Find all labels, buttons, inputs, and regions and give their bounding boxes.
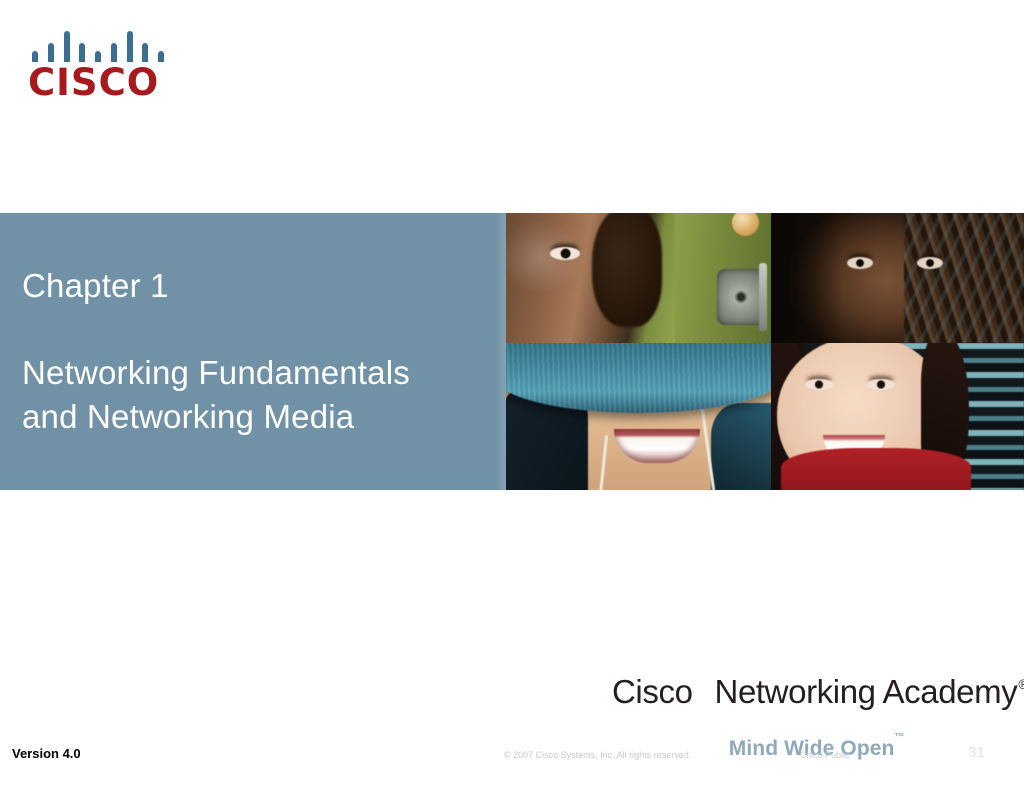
smile-shape (614, 429, 700, 463)
cisco-networking-academy-logo: Cisco Networking Academy ® Mind Wide Ope… (612, 655, 1012, 725)
page-subtitle: Networking Fundamentals and Networking M… (22, 351, 410, 439)
page-number: 31 (968, 744, 985, 761)
classification-label: Cisco Public (800, 750, 850, 760)
page-title: Chapter 1 (22, 265, 169, 308)
registered-trademark-icon: ® (1018, 677, 1024, 691)
shadow-overlay (771, 213, 841, 343)
eye-right-shape (867, 379, 895, 390)
shoulder-right-shape (711, 403, 771, 490)
collage-photo-top-left (506, 213, 771, 343)
eye-left-shape (805, 379, 833, 390)
title-band: Chapter 1 Networking Fundamentals and Ne… (0, 213, 506, 490)
eye-right-shape (917, 257, 943, 269)
eye-left-shape (847, 257, 873, 269)
photo-collage (506, 213, 1024, 490)
academy-logo-primary-line: Cisco Networking Academy ® (612, 655, 1012, 708)
earbud-cord-left (599, 435, 608, 490)
academy-cisco-word: Cisco (612, 675, 693, 708)
collage-photo-bottom-right (771, 343, 1024, 490)
hero-banner: Chapter 1 Networking Fundamentals and Ne… (0, 213, 1024, 490)
skateboard-truck (717, 269, 765, 325)
academy-name-word: Networking Academy (715, 675, 1018, 708)
footer: Version 4.0 © 2007 Cisco Systems, Inc. A… (0, 744, 1024, 768)
dreadlocks-shape (904, 213, 1024, 343)
hair-shape (592, 213, 662, 327)
copyright-notice: © 2007 Cisco Systems, Inc. All rights re… (504, 750, 691, 760)
eye-shape (550, 247, 580, 260)
version-label: Version 4.0 (12, 746, 81, 761)
skateboard-bolt (759, 263, 767, 331)
collage-photo-top-right (771, 213, 1024, 343)
hoodie-shape (506, 343, 771, 413)
red-top-shape (781, 448, 971, 490)
collage-photo-bottom-left (506, 343, 771, 490)
cisco-wordmark: CISCO (28, 64, 159, 101)
cisco-bridge-icon (32, 28, 164, 62)
cisco-logo: CISCO (28, 28, 198, 108)
trademark-icon: ™ (894, 732, 904, 743)
